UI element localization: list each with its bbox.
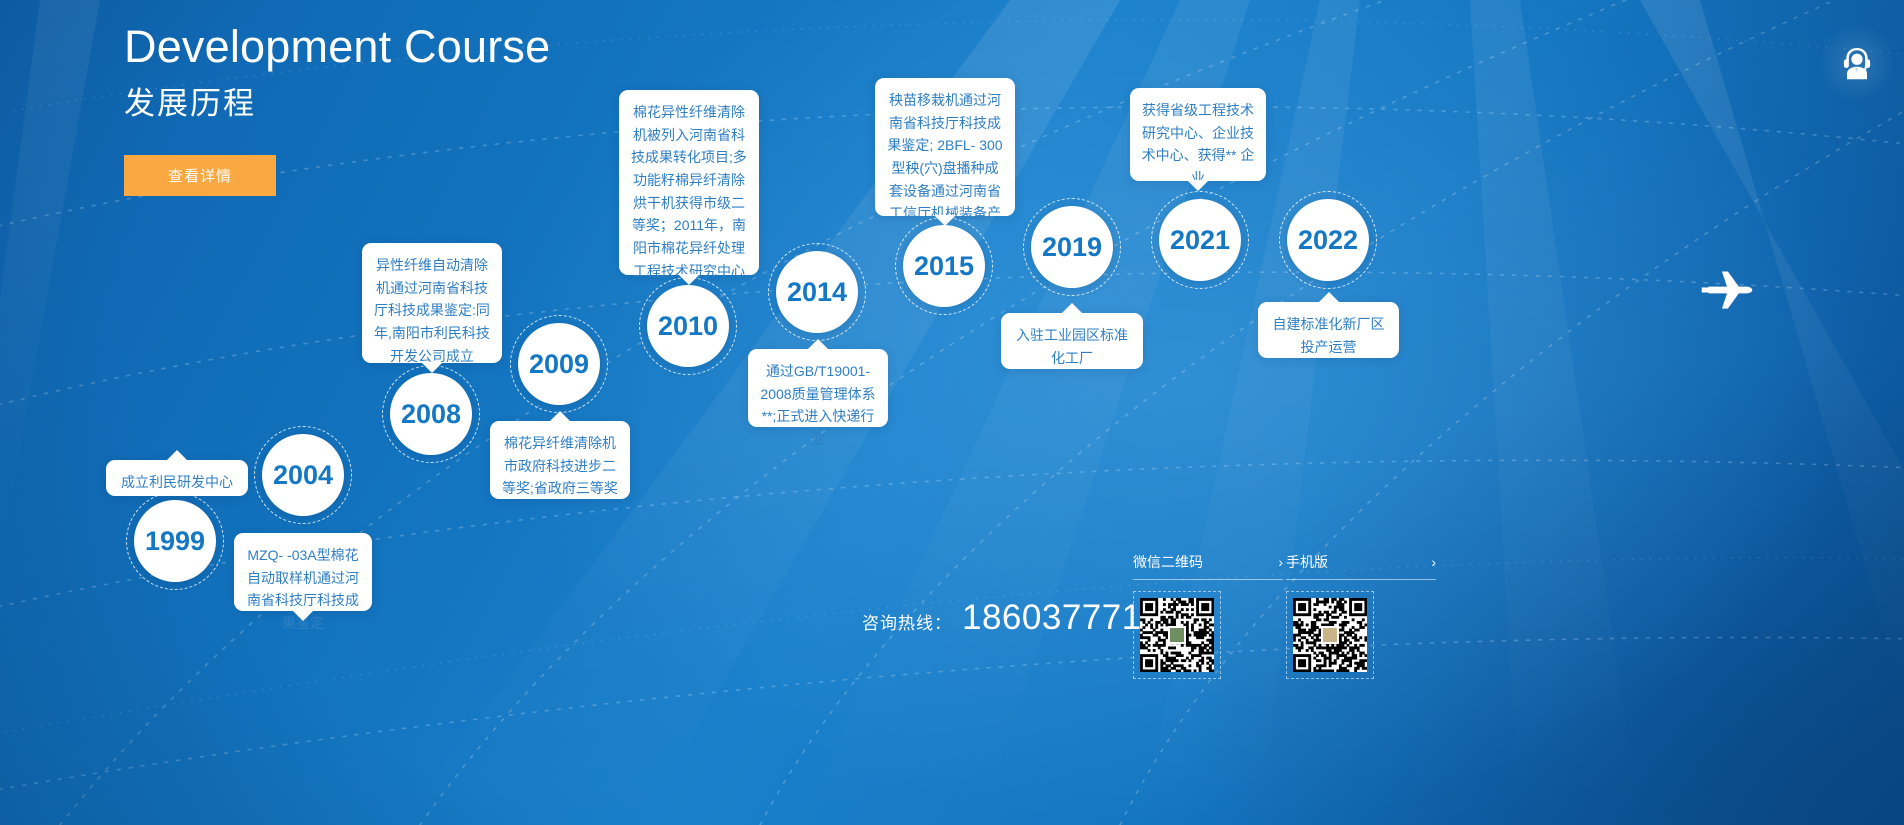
timeline-card-2004[interactable]: MZQ- -03A型棉花自动取样机通过河南省科技厅科技成果鉴定 (234, 533, 372, 611)
qr-label: 微信二维码 (1133, 552, 1203, 572)
timeline-year-circle-2010[interactable]: 2010 (647, 285, 729, 367)
view-details-button[interactable]: 查看详情 (124, 155, 276, 196)
timeline-year-circle-2021[interactable]: 2021 (1159, 199, 1241, 281)
qr-block-1: 手机版› (1286, 552, 1406, 679)
timeline-year-circle-2022[interactable]: 2022 (1287, 199, 1369, 281)
page-title-cn: 发展历程 (124, 82, 550, 126)
timeline-year-circle-2019[interactable]: 2019 (1031, 206, 1113, 288)
timeline-year-circle-2015[interactable]: 2015 (903, 225, 985, 307)
qr-code-image (1293, 598, 1367, 672)
timeline-year-label: 2015 (914, 251, 974, 282)
service-halo (1818, 24, 1896, 102)
timeline-card-1999[interactable]: 成立利民研发中心 (106, 460, 248, 496)
timeline-card-text: 异性纤维自动清除机通过河南省科技厅科技成果鉴定:同年,南阳市利民科技开发公司成立 (373, 254, 491, 367)
card-pointer (166, 450, 188, 461)
timeline-card-2014[interactable]: 通过GB/T19001-2008质量管理体系**;正式进入快递行业 (748, 349, 888, 427)
timeline-card-2019[interactable]: 入驻工业园区标准化工厂 (1001, 313, 1143, 369)
timeline-card-text: 通过GB/T19001-2008质量管理体系**;正式进入快递行业 (759, 360, 877, 451)
qr-block-0: 微信二维码› (1133, 552, 1253, 679)
card-pointer (1318, 292, 1340, 303)
timeline-card-text: 棉花异纤维清除机市政府科技进步二等奖;省政府三等奖 (501, 432, 619, 500)
timeline-year-label: 2004 (273, 460, 333, 491)
timeline-card-2021[interactable]: 获得省级工程技术研究中心、企业技术中心、获得** 企业 (1130, 88, 1266, 181)
timeline-card-text: MZQ- -03A型棉花自动取样机通过河南省科技厅科技成果鉴定 (245, 544, 361, 635)
timeline-year-circle-2014[interactable]: 2014 (776, 251, 858, 333)
airplane-marker (1700, 268, 1754, 317)
qr-frame (1286, 591, 1374, 679)
chevron-right-icon: › (1431, 554, 1436, 570)
timeline-year-label: 1999 (145, 526, 205, 557)
timeline-year-label: 2014 (787, 277, 847, 308)
qr-frame (1133, 591, 1221, 679)
timeline-card-text: 获得省级工程技术研究中心、企业技术中心、获得** 企业 (1141, 99, 1255, 190)
airplane-icon (1700, 268, 1754, 312)
page-heading: Development Course 发展历程 (124, 18, 550, 126)
timeline-year-label: 2022 (1298, 225, 1358, 256)
chevron-right-icon: › (1278, 554, 1283, 570)
hotline: 咨询热线： 18603777118 (862, 598, 1179, 638)
timeline-year-label: 2009 (529, 349, 589, 380)
hotline-label: 咨询热线： (862, 609, 952, 634)
timeline-card-text: 自建标准化新厂区投产运营 (1269, 313, 1388, 358)
timeline-year-circle-2008[interactable]: 2008 (390, 373, 472, 455)
qr-link-1[interactable]: 手机版› (1286, 552, 1436, 580)
qr-code-image (1140, 598, 1214, 672)
timeline-year-circle-2009[interactable]: 2009 (518, 323, 600, 405)
card-pointer (1187, 180, 1209, 191)
customer-service-button[interactable] (1822, 28, 1892, 98)
timeline-card-text: 入驻工业园区标准化工厂 (1012, 324, 1132, 369)
timeline-year-label: 2010 (658, 311, 718, 342)
timeline-card-2022[interactable]: 自建标准化新厂区投产运营 (1258, 302, 1399, 358)
timeline-year-label: 2019 (1042, 232, 1102, 263)
timeline-year-circle-2004[interactable]: 2004 (262, 434, 344, 516)
page-root: Development Course 发展历程 查看详情 成 (0, 0, 1904, 825)
timeline-card-2010[interactable]: 棉花异性纤维清除机被列入河南省科技成果转化项目;多功能籽棉异纤清除烘干机获得市级… (619, 90, 759, 275)
timeline-year-label: 2008 (401, 399, 461, 430)
timeline-card-2015[interactable]: 秧苗移栽机通过河南省科技厅科技成果鉴定; 2BFL- 300型秧(穴)盘播种成套… (875, 78, 1015, 216)
page-title-en: Development Course (124, 18, 550, 76)
qr-label: 手机版 (1286, 552, 1328, 572)
card-pointer (292, 610, 314, 621)
timeline-card-2009[interactable]: 棉花异纤维清除机市政府科技进步二等奖;省政府三等奖 (490, 421, 630, 499)
card-pointer (1061, 303, 1083, 314)
timeline-year-circle-1999[interactable]: 1999 (134, 500, 216, 582)
timeline-year-label: 2021 (1170, 225, 1230, 256)
timeline-card-2008[interactable]: 异性纤维自动清除机通过河南省科技厅科技成果鉴定:同年,南阳市利民科技开发公司成立 (362, 243, 502, 363)
qr-link-0[interactable]: 微信二维码› (1133, 552, 1283, 580)
timeline-card-text: 成立利民研发中心 (117, 471, 237, 494)
